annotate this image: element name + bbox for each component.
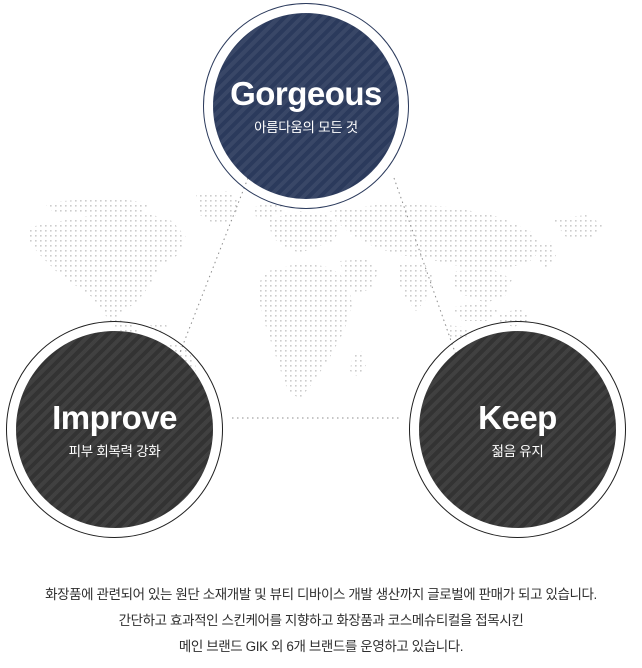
description-line: 메인 브랜드 GIK 외 6개 브랜드를 운영하고 있습니다. bbox=[0, 634, 642, 660]
infographic-stage: Gorgeous 아름다움의 모든 것 Improve 피부 회복력 강화 Ke… bbox=[0, 0, 642, 668]
node-keep-subtitle: 젊음 유지 bbox=[492, 445, 544, 459]
node-improve-subtitle: 피부 회복력 강화 bbox=[69, 445, 161, 459]
node-gorgeous-subtitle: 아름다움의 모든 것 bbox=[254, 121, 358, 135]
connector-gorgeous-keep bbox=[394, 178, 456, 355]
node-keep-title: Keep bbox=[478, 401, 557, 434]
node-gorgeous[interactable]: Gorgeous 아름다움의 모든 것 bbox=[203, 3, 409, 209]
node-keep[interactable]: Keep 젊음 유지 bbox=[409, 321, 626, 538]
node-gorgeous-title: Gorgeous bbox=[230, 77, 382, 110]
description-line: 화장품에 관련되어 있는 원단 소재개발 및 뷰티 디바이스 개발 생산까지 글… bbox=[0, 582, 642, 608]
node-keep-disc: Keep 젊음 유지 bbox=[419, 331, 616, 528]
node-improve[interactable]: Improve 피부 회복력 강화 bbox=[6, 321, 223, 538]
description-block: 화장품에 관련되어 있는 원단 소재개발 및 뷰티 디바이스 개발 생산까지 글… bbox=[0, 582, 642, 660]
node-improve-title: Improve bbox=[52, 401, 177, 434]
connector-gorgeous-improve bbox=[179, 178, 248, 355]
node-improve-disc: Improve 피부 회복력 강화 bbox=[16, 331, 213, 528]
description-line: 간단하고 효과적인 스킨케어를 지향하고 화장품과 코스메슈티컬을 접목시킨 bbox=[0, 608, 642, 634]
node-gorgeous-disc: Gorgeous 아름다움의 모든 것 bbox=[213, 13, 399, 199]
